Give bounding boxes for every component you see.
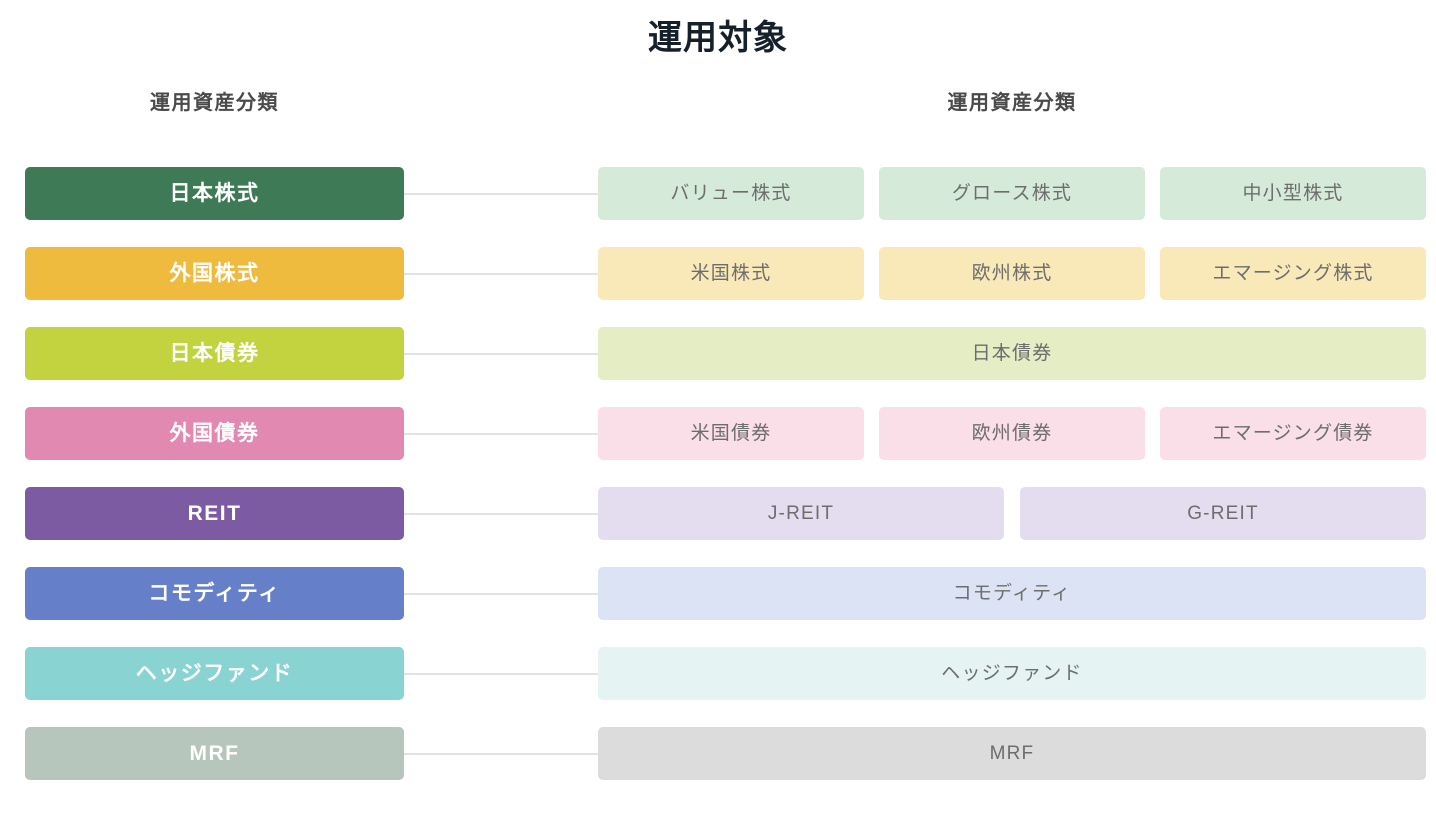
sub-category-box[interactable]: J-REIT <box>598 487 1004 540</box>
sub-category-box[interactable]: MRF <box>598 727 1426 780</box>
connector-line <box>404 513 598 515</box>
sub-category-box[interactable]: コモディティ <box>598 567 1426 620</box>
connector-line <box>404 273 598 275</box>
connector-line <box>404 433 598 435</box>
sub-category-group: 米国債券欧州債券エマージング債券 <box>598 407 1426 460</box>
sub-category-box[interactable]: バリュー株式 <box>598 167 864 220</box>
column-header-left: 運用資産分類 <box>25 90 404 116</box>
asset-class-row: ヘッジファンドヘッジファンド <box>0 647 1436 700</box>
sub-category-label: 欧州株式 <box>972 264 1053 283</box>
category-label: 外国債券 <box>170 423 260 444</box>
category-box[interactable]: REIT <box>25 487 404 540</box>
category-label: MRF <box>190 743 240 764</box>
sub-category-box[interactable]: 米国債券 <box>598 407 864 460</box>
column-header-right: 運用資産分類 <box>598 90 1426 116</box>
sub-category-label: 米国債券 <box>691 424 772 443</box>
connector-line <box>404 753 598 755</box>
category-label: 外国株式 <box>170 263 260 284</box>
sub-category-box[interactable]: エマージング株式 <box>1160 247 1426 300</box>
sub-category-label: MRF <box>990 744 1035 763</box>
sub-category-group: ヘッジファンド <box>598 647 1426 700</box>
category-box[interactable]: 日本株式 <box>25 167 404 220</box>
sub-category-box[interactable]: エマージング債券 <box>1160 407 1426 460</box>
sub-category-box[interactable]: 欧州株式 <box>879 247 1145 300</box>
asset-class-row: コモディティコモディティ <box>0 567 1436 620</box>
sub-category-box[interactable]: 中小型株式 <box>1160 167 1426 220</box>
sub-category-label: グロース株式 <box>952 184 1072 203</box>
sub-category-label: ヘッジファンド <box>941 664 1082 683</box>
sub-category-group: コモディティ <box>598 567 1426 620</box>
category-label: REIT <box>188 503 242 524</box>
sub-category-box[interactable]: 欧州債券 <box>879 407 1145 460</box>
sub-category-box[interactable]: 日本債券 <box>598 327 1426 380</box>
connector-line <box>404 193 598 195</box>
sub-category-box[interactable]: グロース株式 <box>879 167 1145 220</box>
asset-class-row: 日本株式バリュー株式グロース株式中小型株式 <box>0 167 1436 220</box>
asset-class-row: 日本債券日本債券 <box>0 327 1436 380</box>
sub-category-label: エマージング株式 <box>1212 264 1373 283</box>
sub-category-label: 米国株式 <box>691 264 772 283</box>
sub-category-label: コモディティ <box>953 584 1072 603</box>
sub-category-group: J-REITG-REIT <box>598 487 1426 540</box>
asset-class-row: REITJ-REITG-REIT <box>0 487 1436 540</box>
sub-category-label: 日本債券 <box>972 344 1053 363</box>
asset-class-row: 外国債券米国債券欧州債券エマージング債券 <box>0 407 1436 460</box>
sub-category-group: 米国株式欧州株式エマージング株式 <box>598 247 1426 300</box>
asset-class-row: MRFMRF <box>0 727 1436 780</box>
sub-category-group: 日本債券 <box>598 327 1426 380</box>
category-box[interactable]: 日本債券 <box>25 327 404 380</box>
sub-category-box[interactable]: ヘッジファンド <box>598 647 1426 700</box>
sub-category-group: MRF <box>598 727 1426 780</box>
asset-class-row: 外国株式米国株式欧州株式エマージング株式 <box>0 247 1436 300</box>
category-label: コモディティ <box>148 583 280 604</box>
sub-category-label: 中小型株式 <box>1242 184 1343 203</box>
category-box[interactable]: ヘッジファンド <box>25 647 404 700</box>
sub-category-box[interactable]: 米国株式 <box>598 247 864 300</box>
category-box[interactable]: コモディティ <box>25 567 404 620</box>
sub-category-box[interactable]: G-REIT <box>1020 487 1426 540</box>
connector-line <box>404 673 598 675</box>
category-box[interactable]: 外国債券 <box>25 407 404 460</box>
connector-line <box>404 353 598 355</box>
category-label: 日本債券 <box>170 343 260 364</box>
connector-line <box>404 593 598 595</box>
sub-category-label: バリュー株式 <box>670 184 791 203</box>
category-box[interactable]: MRF <box>25 727 404 780</box>
category-label: ヘッジファンド <box>136 663 294 684</box>
category-label: 日本株式 <box>170 183 260 204</box>
sub-category-label: 欧州債券 <box>972 424 1053 443</box>
sub-category-group: バリュー株式グロース株式中小型株式 <box>598 167 1426 220</box>
sub-category-label: J-REIT <box>768 504 834 523</box>
category-box[interactable]: 外国株式 <box>25 247 404 300</box>
page-title: 運用対象 <box>0 14 1436 62</box>
asset-class-matrix: 日本株式バリュー株式グロース株式中小型株式外国株式米国株式欧州株式エマージング株… <box>0 167 1436 780</box>
sub-category-label: エマージング債券 <box>1212 424 1373 443</box>
diagram-page: 運用対象 運用資産分類 運用資産分類 日本株式バリュー株式グロース株式中小型株式… <box>0 0 1436 814</box>
sub-category-label: G-REIT <box>1187 504 1259 523</box>
